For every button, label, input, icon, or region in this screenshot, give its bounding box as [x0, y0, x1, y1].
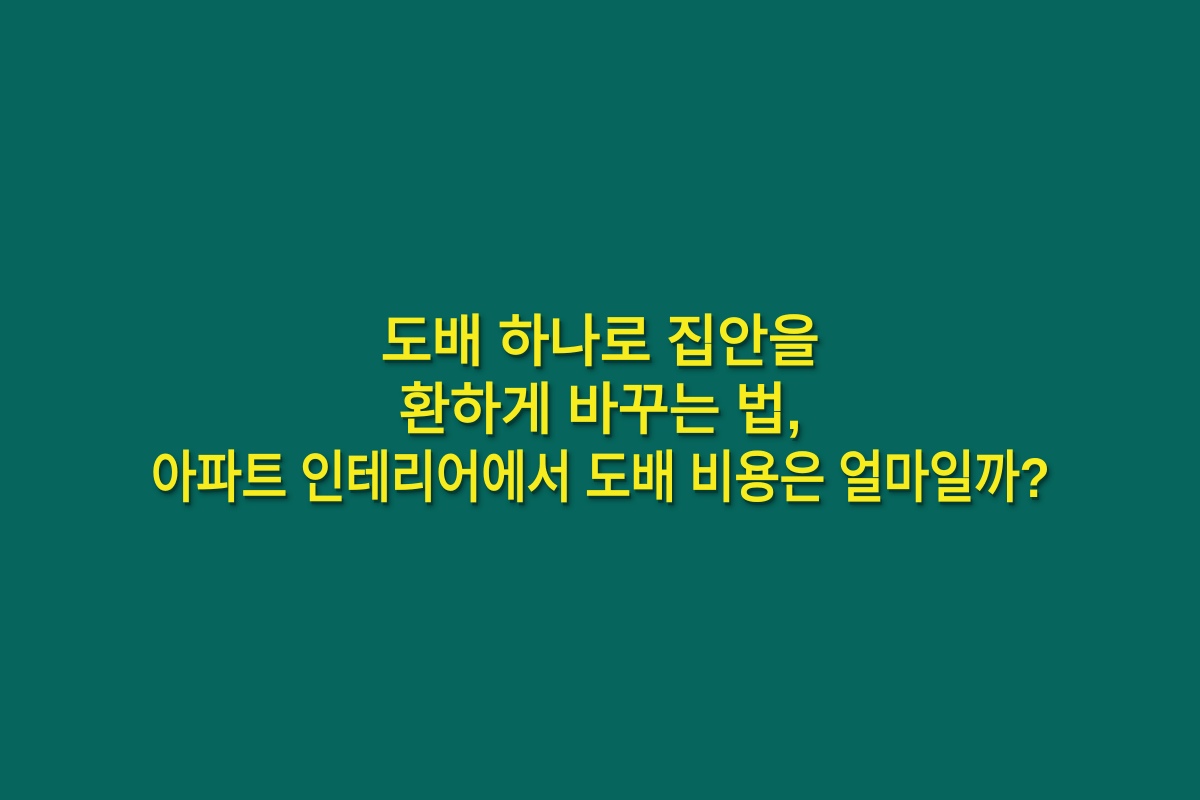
headline-line-3: 아파트 인테리어에서 도배 비용은 얼마일까?: [151, 444, 1049, 512]
headline-line-2: 환하게 바꾸는 법,: [0, 376, 1200, 444]
headline-text-block: 도배 하나로 집안을 환하게 바꾸는 법, 아파트 인테리어에서 도배 비용은 …: [0, 308, 1200, 512]
headline-line-1: 도배 하나로 집안을: [0, 308, 1200, 376]
banner-canvas: 도배 하나로 집안을 환하게 바꾸는 법, 아파트 인테리어에서 도배 비용은 …: [0, 0, 1200, 800]
